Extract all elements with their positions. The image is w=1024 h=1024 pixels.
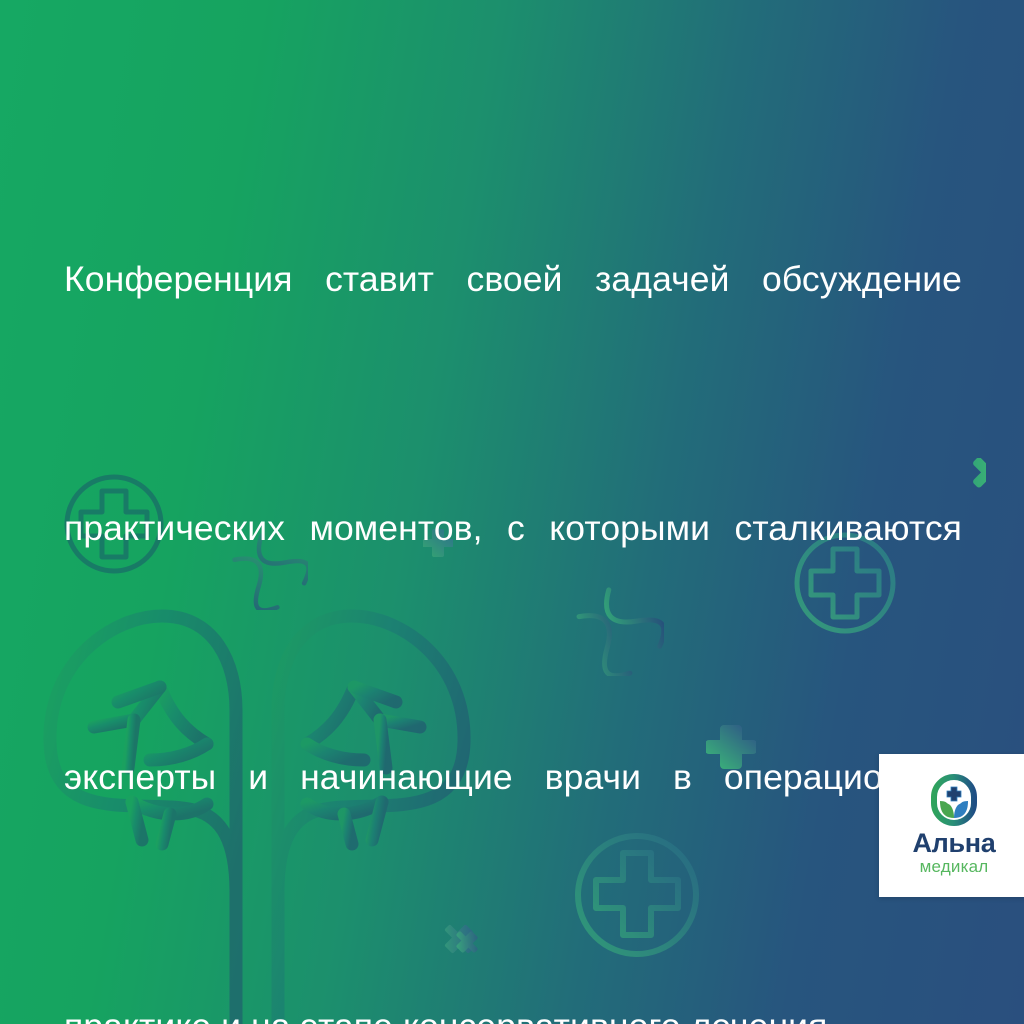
headline-line-1: Конференция ставит своей задачей обсужде… [64, 238, 962, 321]
logo-name: Альна [912, 829, 995, 857]
headline-line-3: эксперты и начинающие врачи в операционн… [64, 736, 962, 819]
logo-tagline: медикал [920, 856, 989, 877]
headline-text: Конференция ставит своей задачей обсужде… [64, 72, 962, 1024]
promo-slide: Конференция ставит своей задачей обсужде… [0, 0, 1024, 1024]
headline-line-2: практических моментов, с которыми сталки… [64, 487, 962, 570]
logo-card: Альна медикал [879, 754, 1024, 897]
alna-emblem-icon [931, 774, 977, 826]
headline-line-4: практике и на этапе консервативного лече… [64, 985, 962, 1024]
